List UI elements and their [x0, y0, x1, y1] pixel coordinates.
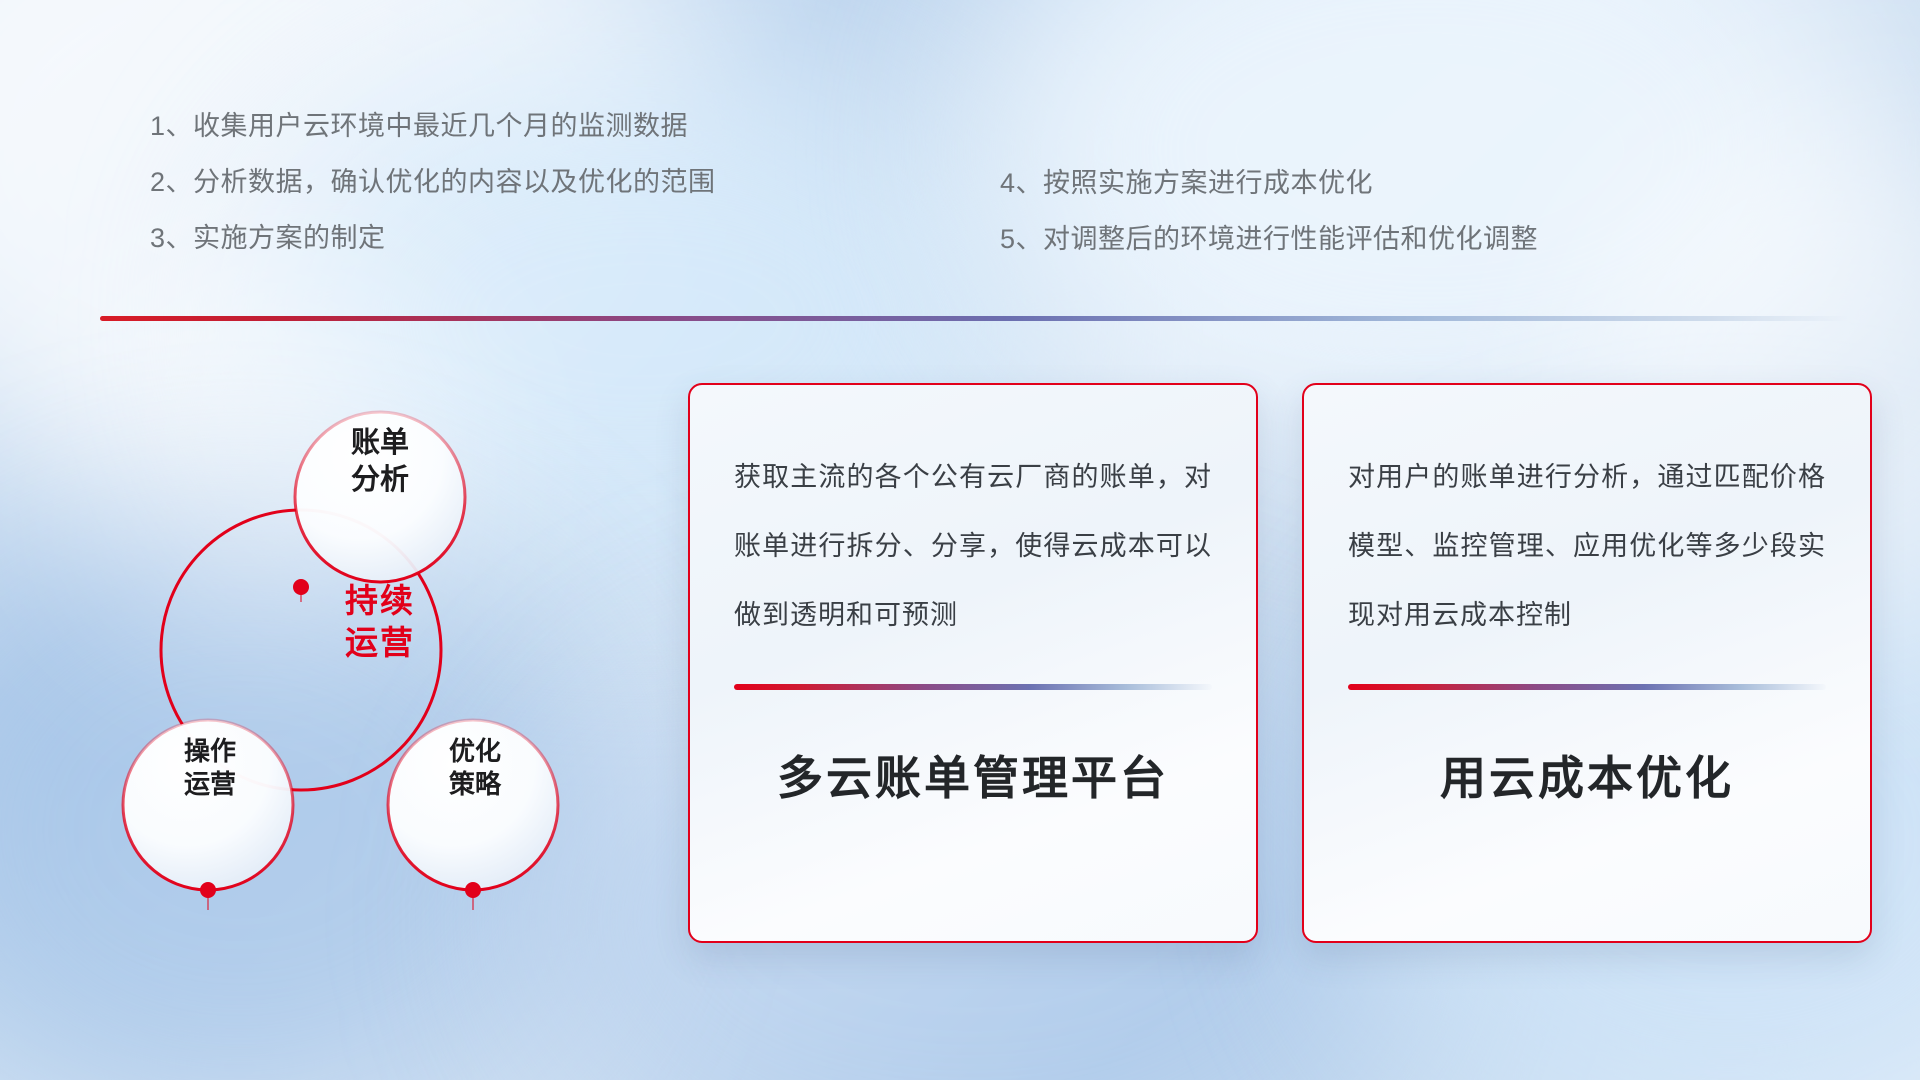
venn-node-dot — [465, 882, 481, 898]
venn-label-strategy: 优化 策略 — [400, 735, 550, 802]
venn-label-center: 持续 运营 — [270, 580, 490, 664]
card-title: 多云账单管理平台 — [734, 742, 1212, 808]
card-divider — [734, 684, 1212, 690]
venn-label-billing: 账单 分析 — [295, 425, 465, 499]
bullet-list-left: 1、收集用户云环境中最近几个月的监测数据 2、分析数据，确认优化的内容以及优化的… — [150, 98, 716, 266]
info-card-cost-optimization[interactable]: 对用户的账单进行分析，通过匹配价格模型、监控管理、应用优化等多少段实现对用云成本… — [1302, 383, 1872, 943]
info-card-multicloud-billing[interactable]: 获取主流的各个公有云厂商的账单，对账单进行拆分、分享，使得云成本可以做到透明和可… — [688, 383, 1258, 943]
slide-canvas: 1、收集用户云环境中最近几个月的监测数据 2、分析数据，确认优化的内容以及优化的… — [0, 0, 1920, 1080]
section-divider — [100, 316, 1850, 321]
venn-diagram: 账单 分析 操作 运营 优化 策略 持续 运营 — [90, 350, 650, 950]
bullet-item: 4、按照实施方案进行成本优化 — [1000, 155, 1538, 211]
venn-node-dot — [200, 882, 216, 898]
card-title: 用云成本优化 — [1348, 742, 1826, 808]
card-divider — [1348, 684, 1826, 690]
bullet-item: 3、实施方案的制定 — [150, 210, 716, 266]
bullet-list-right: 4、按照实施方案进行成本优化 5、对调整后的环境进行性能评估和优化调整 — [1000, 155, 1538, 267]
card-body-text: 对用户的账单进行分析，通过匹配价格模型、监控管理、应用优化等多少段实现对用云成本… — [1348, 443, 1826, 650]
bullet-item: 5、对调整后的环境进行性能评估和优化调整 — [1000, 211, 1538, 267]
venn-label-ops: 操作 运营 — [135, 735, 285, 802]
bullet-item: 2、分析数据，确认优化的内容以及优化的范围 — [150, 154, 716, 210]
card-body-text: 获取主流的各个公有云厂商的账单，对账单进行拆分、分享，使得云成本可以做到透明和可… — [734, 443, 1212, 650]
bullet-item: 1、收集用户云环境中最近几个月的监测数据 — [150, 98, 716, 154]
